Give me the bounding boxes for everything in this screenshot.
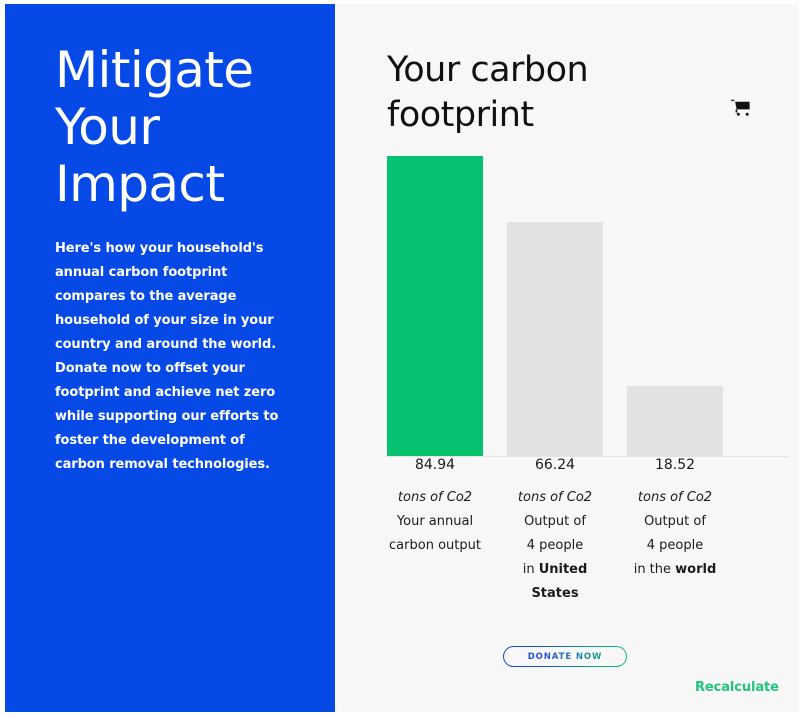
bar-value-label: 18.52 (627, 457, 723, 473)
bar-united-states (507, 222, 603, 456)
bar-caption-line-3-prefix: in (523, 562, 539, 577)
bar-caption-line-1: Output of (625, 510, 725, 534)
recalculate-link[interactable]: Recalculate (695, 680, 779, 695)
bar-caption-unit: tons of Co2 (385, 486, 485, 510)
bar-caption-line-2: 4 people (505, 534, 605, 558)
bar-caption-unit: tons of Co2 (505, 486, 605, 510)
donate-now-label: DONATE NOW (504, 647, 626, 666)
bar-caption-line-3: in the world (625, 558, 725, 582)
bar-column (387, 148, 483, 456)
chart-plot-area (387, 148, 787, 456)
bar-column (627, 148, 723, 456)
bar-your-output (387, 156, 483, 456)
bar-caption-line-3-strong: world (675, 562, 716, 577)
bar-caption: tons of Co2 Your annual carbon output (385, 486, 485, 558)
bar-value-label: 84.94 (387, 457, 483, 473)
bar-column (507, 148, 603, 456)
bar-caption-line-2: 4 people (625, 534, 725, 558)
bar-caption: tons of Co2 Output of 4 people in United… (505, 486, 605, 606)
chart-value-labels: 84.94 66.24 18.52 (387, 457, 787, 479)
results-panel: Your carbon footprint (335, 4, 799, 712)
bar-caption-line-3: in United States (505, 558, 605, 606)
donate-now-button[interactable]: DONATE NOW (503, 646, 627, 667)
carbon-footprint-page: Mitigate Your Impact Here's how your hou… (0, 0, 804, 716)
bar-caption-line-1: Your annual (385, 510, 485, 534)
hero-panel: Mitigate Your Impact Here's how your hou… (5, 4, 335, 712)
bar-caption-line-1: Output of (505, 510, 605, 534)
bar-caption-line-2: carbon output (385, 534, 485, 558)
hero-title: Mitigate Your Impact (55, 42, 285, 213)
donate-now-button-surface: DONATE NOW (504, 647, 626, 666)
bar-world (627, 386, 723, 456)
bar-caption-line-3-strong: United States (531, 562, 587, 601)
bar-caption: tons of Co2 Output of 4 people in the wo… (625, 486, 725, 582)
hero-description: Here's how your household's annual carbo… (55, 237, 285, 477)
bar-caption-line-3-prefix: in the (634, 562, 675, 577)
bar-value-label: 66.24 (507, 457, 603, 473)
carbon-bar-chart: 84.94 66.24 18.52 tons of Co2 Your annua… (335, 4, 799, 712)
bar-caption-unit: tons of Co2 (625, 486, 725, 510)
